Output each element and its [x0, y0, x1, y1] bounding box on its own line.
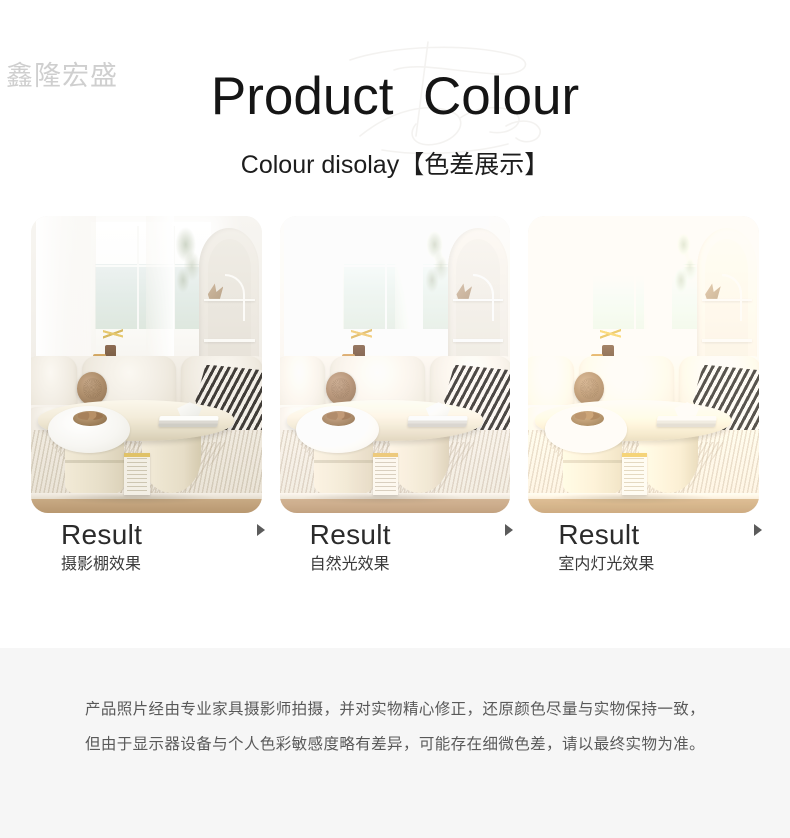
triangle-right-icon: [505, 524, 513, 536]
table-pedestal-right: [639, 432, 698, 493]
living-room-scene: [31, 216, 262, 513]
page-subtitle: Colour disolay【色差展示】: [0, 145, 790, 181]
caption-studio: Result 摄影棚效果: [31, 518, 262, 598]
coffee-table: [287, 400, 483, 501]
bowl-contents: [574, 412, 599, 420]
colour-comparison-gallery: [31, 216, 759, 513]
disclaimer-line-2: 但由于显示器设备与个人色彩敏感度略有差异，可能存在细微色差，请以最终实物为准。: [0, 732, 790, 754]
books-decor: [159, 416, 219, 427]
lighting-label: 自然光效果: [280, 552, 511, 576]
books-decor: [656, 416, 716, 427]
window-mullion: [137, 226, 139, 330]
lighting-label: 室内灯光效果: [528, 552, 759, 576]
dried-stems-decor: [103, 320, 124, 347]
page-title: Product Colour: [0, 66, 790, 127]
coffee-table: [535, 400, 731, 501]
alcove-shelf: [453, 339, 503, 342]
result-label: Result: [280, 518, 511, 552]
living-room-scene: [280, 216, 511, 513]
magazine-stack: [124, 453, 149, 495]
page-header: Product Colour Colour disolay【色差展示】: [0, 0, 790, 205]
dried-stems-decor: [351, 320, 372, 347]
table-pedestal-right: [390, 432, 449, 493]
result-label: Result: [528, 518, 759, 552]
books-decor: [407, 416, 467, 427]
alcove-shelf: [702, 339, 752, 342]
triangle-right-icon: [257, 524, 265, 536]
product-photo-panel-natural[interactable]: [280, 216, 511, 513]
panel-captions: Result 摄影棚效果 Result 自然光效果 Result 室内灯光效果: [31, 518, 759, 598]
caption-indoor: Result 室内灯光效果: [528, 518, 759, 598]
window-mullion: [634, 226, 636, 330]
result-label: Result: [31, 518, 262, 552]
window-mullion: [385, 226, 387, 330]
product-photo-panel-studio[interactable]: [31, 216, 262, 513]
lighting-label: 摄影棚效果: [31, 552, 262, 576]
magazine-stack: [373, 453, 398, 495]
dried-stems-decor: [600, 320, 621, 347]
coffee-table: [38, 400, 234, 501]
living-room-scene: [528, 216, 759, 513]
table-pedestal-right: [142, 432, 201, 493]
alcove-shelf: [204, 339, 254, 342]
colour-disclaimer: 产品照片经由专业家具摄影师拍摄，并对实物精心修正，还原颜色尽量与实物保持一致， …: [0, 648, 790, 838]
bowl-contents: [326, 412, 351, 420]
bowl-contents: [77, 412, 102, 420]
magazine-stack: [622, 453, 647, 495]
product-photo-panel-indoor[interactable]: [528, 216, 759, 513]
disclaimer-line-1: 产品照片经由专业家具摄影师拍摄，并对实物精心修正，还原颜色尽量与实物保持一致，: [0, 697, 790, 719]
triangle-right-icon: [754, 524, 762, 536]
caption-natural: Result 自然光效果: [280, 518, 511, 598]
